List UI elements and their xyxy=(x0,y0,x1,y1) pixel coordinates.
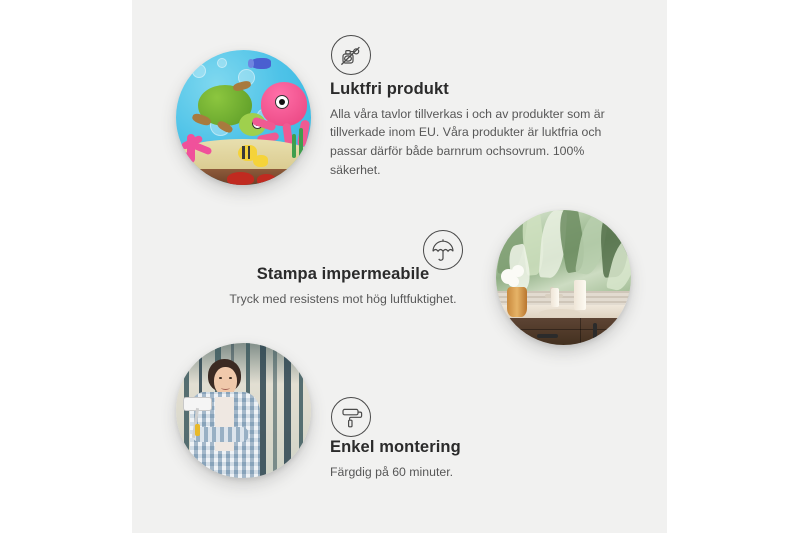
feature-easy-installation: Enkel montering Färgdig på 60 minuter. xyxy=(330,438,580,481)
feature-description: Färgdig på 60 minuter. xyxy=(330,463,580,482)
feature-waterproof-print: Stampa impermeabile Tryck med resistens … xyxy=(213,265,473,308)
bathroom-tropical-wallpaper-circle xyxy=(496,210,631,345)
underwater-cartoon-mural-circle xyxy=(176,50,311,185)
feature-title: Enkel montering xyxy=(330,438,580,458)
umbrella-icon xyxy=(423,230,463,270)
no-odour-perfume-bottle-icon xyxy=(331,35,371,75)
feature-title: Stampa impermeabile xyxy=(213,265,473,285)
feature-title: Luktfri produkt xyxy=(330,80,630,100)
feature-odour-free: Luktfri produkt Alla våra tavlor tillver… xyxy=(330,80,630,180)
woman-with-paint-roller-forest-circle xyxy=(176,343,311,478)
feature-description: Tryck med resistens mot hög luftfuktighe… xyxy=(213,290,473,309)
infographic-stage: Luktfri produkt Alla våra tavlor tillver… xyxy=(0,0,800,533)
feature-description: Alla våra tavlor tillverkas i och av pro… xyxy=(330,105,630,180)
paint-roller-icon xyxy=(331,397,371,437)
